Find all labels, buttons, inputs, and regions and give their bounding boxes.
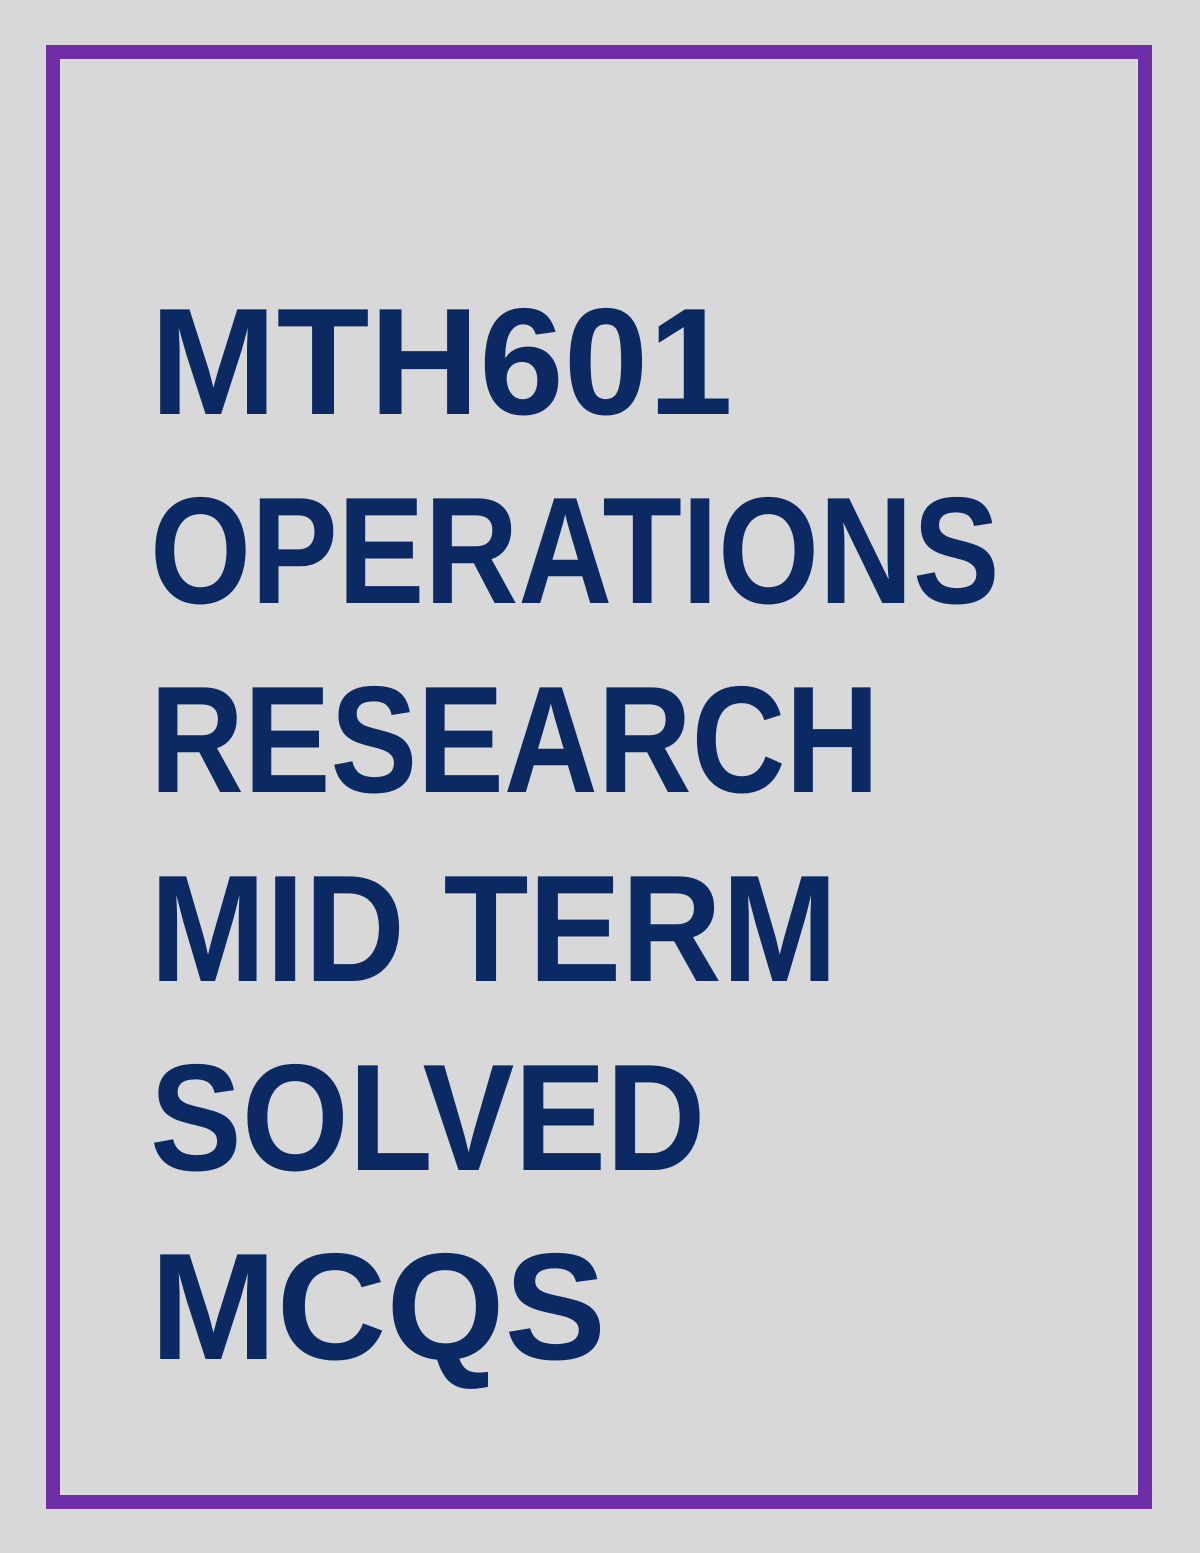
title-line-course-code: MTH601 [150,268,1090,457]
title-line-mid-term: MID TERM [150,835,1010,1024]
title-line-research: RESEARCH [150,646,954,835]
title-line-mcqs: MCQS [150,1213,1090,1402]
title-line-operations: OPERATIONS [150,457,954,646]
title-line-solved: SOLVED [150,1024,1001,1213]
title-page: MTH601 OPERATIONS RESEARCH MID TERM SOLV… [0,0,1200,1553]
page-title: MTH601 OPERATIONS RESEARCH MID TERM SOLV… [150,268,1090,1402]
